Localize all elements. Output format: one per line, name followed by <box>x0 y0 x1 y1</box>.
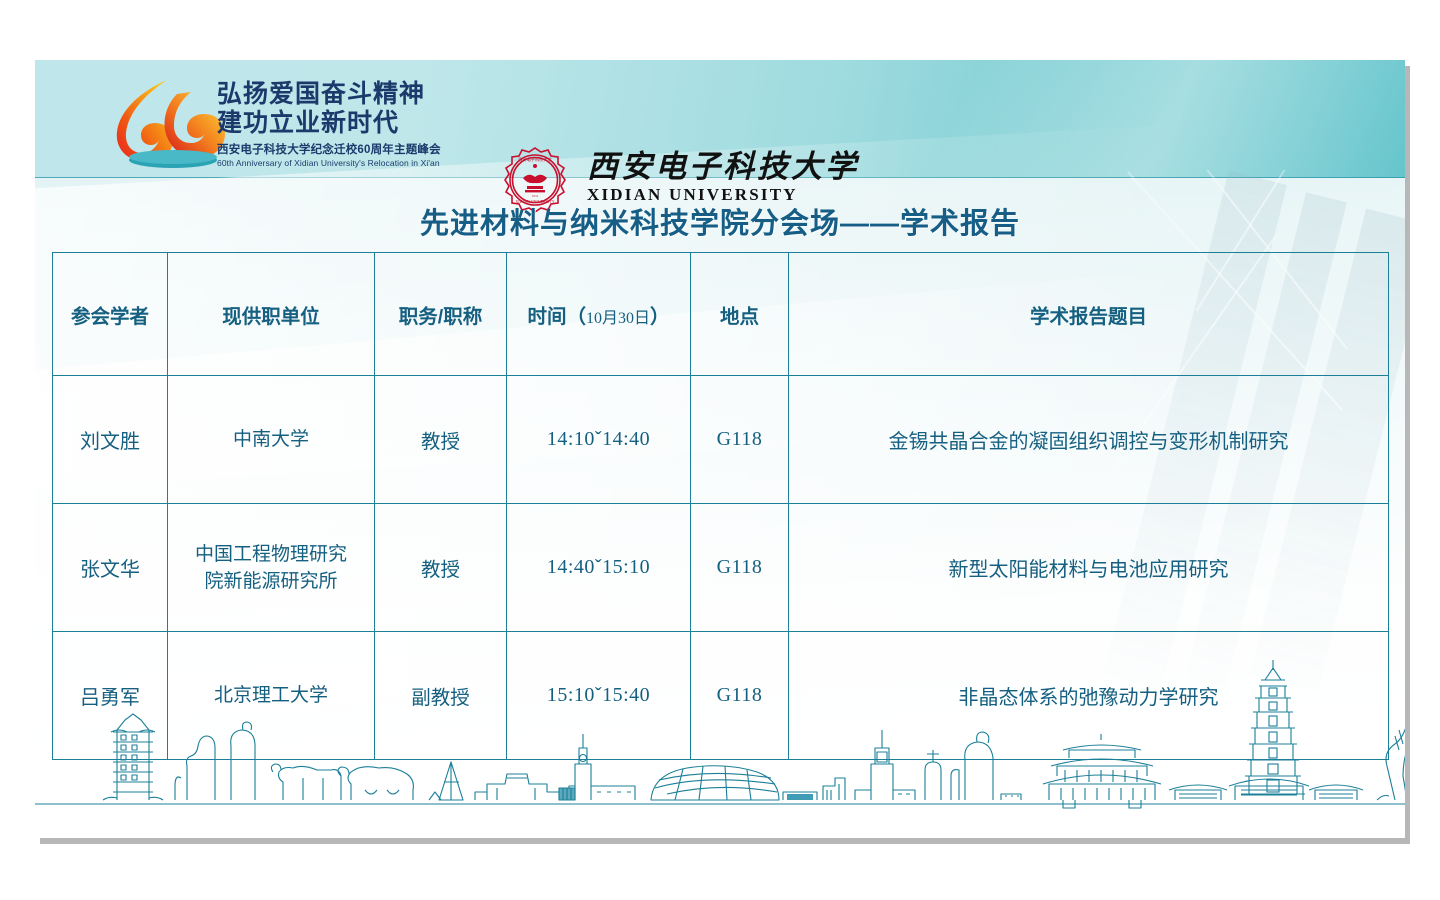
slogan-line-4: 60th Anniversary of Xidian University's … <box>217 158 441 168</box>
anniversary-slogan: 弘扬爱国奋斗精神 建功立业新时代 西安电子科技大学纪念迁校60周年主题峰会 60… <box>217 80 441 168</box>
col-header-time-tail: ） <box>650 306 670 328</box>
university-name-block: 西安电子科技大学 XIDIAN UNIVERSITY <box>587 150 859 205</box>
cell-time: 15:10ˇ15:40 <box>507 632 691 760</box>
slogan-line-3: 西安电子科技大学纪念迁校60周年主题峰会 <box>217 141 441 157</box>
anniversary-60-logo-icon <box>107 74 235 170</box>
small-pagoda-overlay-icon <box>113 688 173 784</box>
col-header-scholar: 参会学者 <box>53 253 168 376</box>
col-header-position: 职务/职称 <box>375 253 507 376</box>
cell-topic: 金锡共晶合金的凝固组织调控与变形机制研究 <box>789 376 1389 504</box>
svg-text:西安电子科技大学: 西安电子科技大学 <box>518 156 552 163</box>
cell-affiliation-line-1: 中国工程物理研究 <box>169 541 373 568</box>
table-row: 张文华 中国工程物理研究 院新能源研究所 教授 14:40ˇ15:10 G118… <box>53 504 1389 632</box>
cell-position: 教授 <box>375 504 507 632</box>
cell-time: 14:40ˇ15:10 <box>507 504 691 632</box>
slide-page: 弘扬爱国奋斗精神 建功立业新时代 西安电子科技大学纪念迁校60周年主题峰会 60… <box>0 0 1440 900</box>
table-header-row: 参会学者 现供职单位 职务/职称 时间（10月30日） 地点 学术报告题目 <box>53 253 1389 376</box>
cell-scholar: 刘文胜 <box>53 376 168 504</box>
cell-topic: 新型太阳能材料与电池应用研究 <box>789 504 1389 632</box>
table-row: 刘文胜 中南大学 教授 14:10ˇ14:40 G118 金锡共晶合金的凝固组织… <box>53 376 1389 504</box>
cell-scholar: 张文华 <box>53 504 168 632</box>
table-row: 吕勇军 北京理工大学 副教授 15:10ˇ15:40 G118 非晶态体系的弛豫… <box>53 632 1389 760</box>
slide-canvas: 弘扬爱国奋斗精神 建功立业新时代 西安电子科技大学纪念迁校60周年主题峰会 60… <box>35 60 1405 838</box>
col-header-time: 时间（10月30日） <box>507 253 691 376</box>
cell-position: 教授 <box>375 376 507 504</box>
university-name-cn: 西安电子科技大学 <box>587 150 859 184</box>
schedule-table: 参会学者 现供职单位 职务/职称 时间（10月30日） 地点 学术报告题目 刘文… <box>52 252 1389 760</box>
page-title: 先进材料与纳米科技学院分会场——学术报告 <box>35 200 1405 242</box>
slogan-line-2: 建功立业新时代 <box>217 109 441 138</box>
cell-affiliation: 中国工程物理研究 院新能源研究所 <box>168 504 375 632</box>
cell-affiliation: 中南大学 <box>168 376 375 504</box>
svg-text:1931: 1931 <box>532 194 539 198</box>
col-header-topic: 学术报告题目 <box>789 253 1389 376</box>
big-wild-goose-pagoda-icon <box>1237 658 1309 806</box>
cell-affiliation: 北京理工大学 <box>168 632 375 760</box>
cell-position: 副教授 <box>375 632 507 760</box>
schedule-table-wrap: 参会学者 现供职单位 职务/职称 时间（10月30日） 地点 学术报告题目 刘文… <box>52 252 1388 760</box>
slide-header: 弘扬爱国奋斗精神 建功立业新时代 西安电子科技大学纪念迁校60周年主题峰会 60… <box>35 60 1405 178</box>
col-header-venue: 地点 <box>691 253 789 376</box>
cell-affiliation-line-2: 院新能源研究所 <box>169 568 373 595</box>
cell-venue: G118 <box>691 504 789 632</box>
col-header-time-main: 时间（ <box>527 306 586 328</box>
slogan-line-1: 弘扬爱国奋斗精神 <box>217 80 441 109</box>
cell-time: 14:10ˇ14:40 <box>507 376 691 504</box>
cell-venue: G118 <box>691 632 789 760</box>
col-header-time-date: 10月30日 <box>586 310 650 327</box>
cell-venue: G118 <box>691 376 789 504</box>
col-header-affiliation: 现供职单位 <box>168 253 375 376</box>
